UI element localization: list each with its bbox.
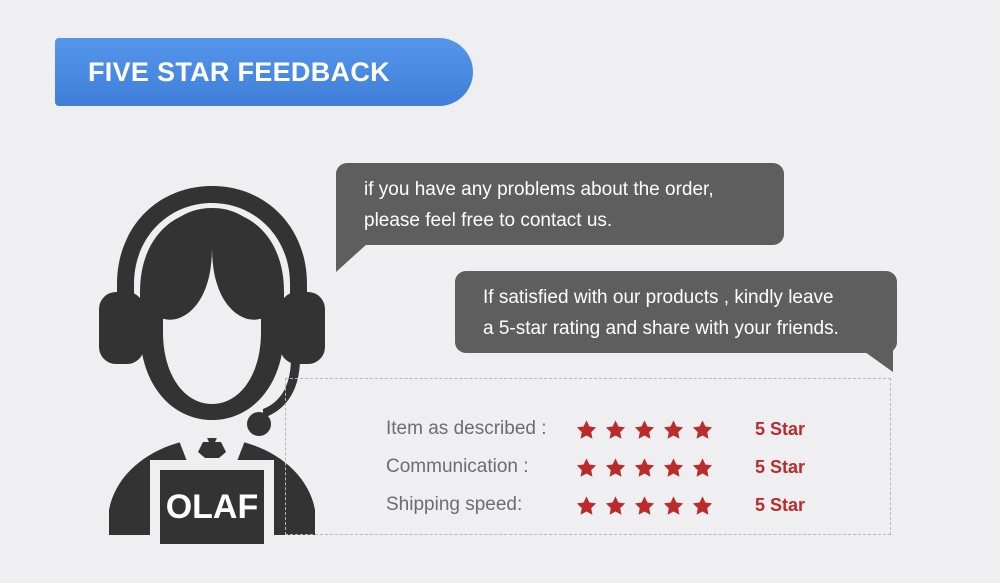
rating-request-bubble-line-1: If satisfied with our products , kindly … <box>483 282 897 313</box>
star-icon <box>576 419 597 440</box>
rating-label: Communication : <box>386 456 576 478</box>
feedback-banner-page: FIVE STAR FEEDBACK <box>0 0 1000 583</box>
star-icon <box>663 457 684 478</box>
rating-stars <box>576 419 744 440</box>
rating-row: Item as described : 5 Star <box>386 410 856 448</box>
ratings-list: Item as described : 5 Star Communication… <box>386 410 856 524</box>
star-icon <box>663 495 684 516</box>
star-icon <box>605 495 626 516</box>
rating-value: 5 Star <box>744 495 805 516</box>
star-icon <box>576 495 597 516</box>
support-bubble: if you have any problems about the order… <box>336 163 784 245</box>
star-icon <box>692 495 713 516</box>
star-icon <box>605 457 626 478</box>
star-icon <box>605 419 626 440</box>
rating-row: Communication : 5 Star <box>386 448 856 486</box>
rating-stars <box>576 457 744 478</box>
star-icon <box>663 419 684 440</box>
rating-request-bubble-line-2: a 5-star rating and share with your frie… <box>483 313 897 344</box>
star-icon <box>692 457 713 478</box>
page-title: FIVE STAR FEEDBACK <box>55 57 390 88</box>
star-icon <box>692 419 713 440</box>
rating-value: 5 Star <box>744 419 805 440</box>
rating-stars <box>576 495 744 516</box>
rating-label: Item as described : <box>386 418 576 440</box>
laptop-sign <box>150 460 274 545</box>
header-banner: FIVE STAR FEEDBACK <box>55 38 473 106</box>
support-bubble-line-1: if you have any problems about the order… <box>364 174 784 205</box>
rating-request-bubble: If satisfied with our products , kindly … <box>455 271 897 353</box>
rating-row: Shipping speed: 5 Star <box>386 486 856 524</box>
star-icon <box>634 495 655 516</box>
star-icon <box>576 457 597 478</box>
star-icon <box>634 457 655 478</box>
star-icon <box>634 419 655 440</box>
rating-value: 5 Star <box>744 457 805 478</box>
support-bubble-line-2: please feel free to contact us. <box>364 205 784 236</box>
rating-label: Shipping speed: <box>386 494 576 516</box>
